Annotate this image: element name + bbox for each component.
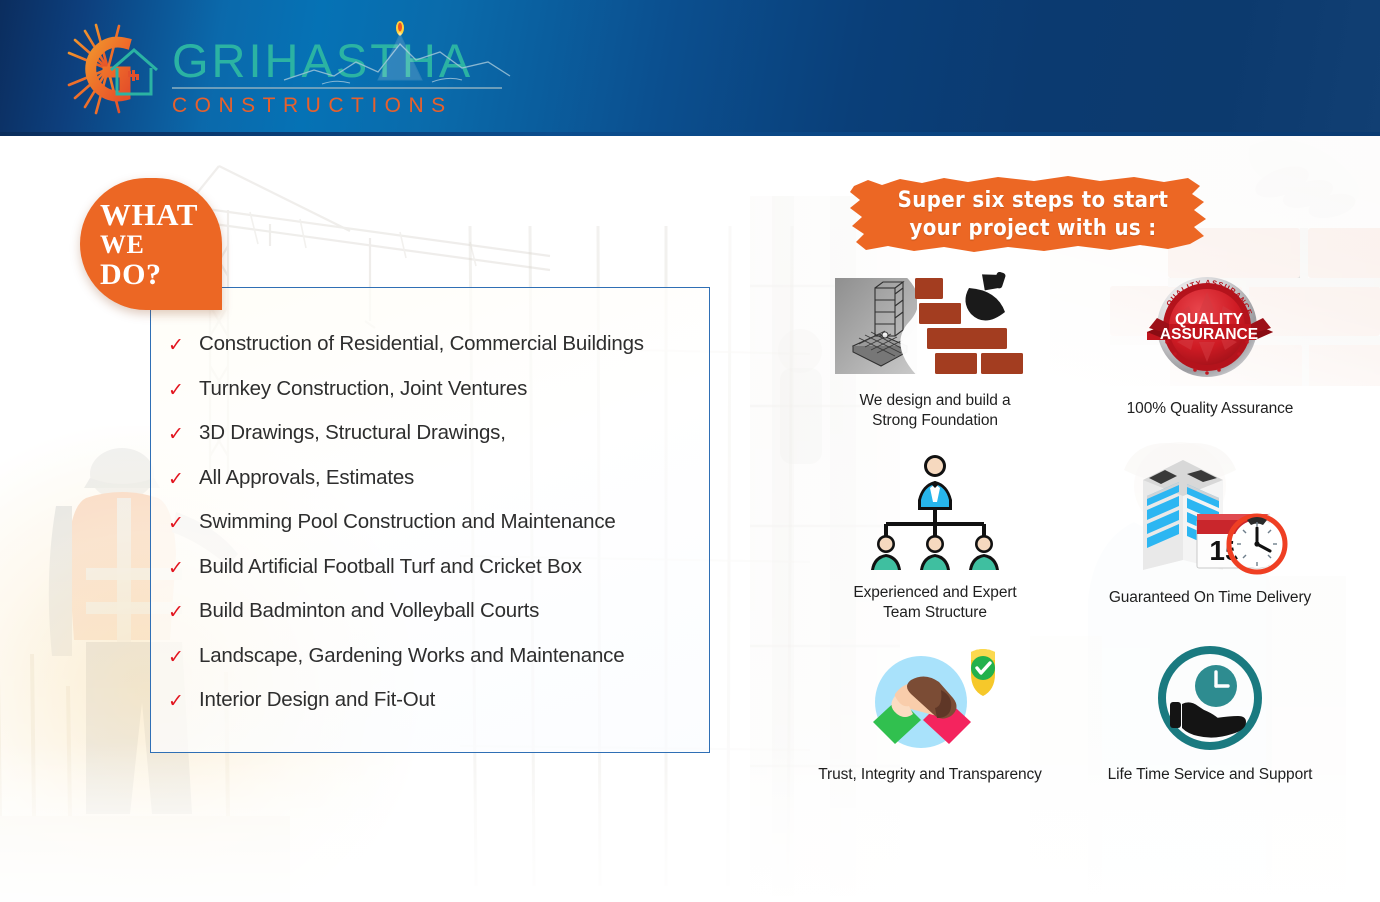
check-icon: ✓ — [155, 508, 199, 538]
check-icon: ✓ — [155, 686, 199, 716]
list-item: ✓ Build Badminton and Volleyball Courts — [155, 597, 755, 642]
list-item-label: Swimming Pool Construction and Maintenan… — [199, 508, 616, 536]
banner-line-1: Super six steps to start — [898, 186, 1169, 214]
check-icon: ✓ — [155, 642, 199, 672]
handshake-shield-check-icon — [855, 642, 1005, 754]
list-item: ✓ All Approvals, Estimates — [155, 464, 755, 509]
check-icon: ✓ — [155, 330, 199, 360]
what-we-do-badge: WHAT WE DO? — [80, 178, 222, 310]
what-we-do-badge-text: WHAT WE DO? — [100, 200, 198, 290]
step-caption: Life Time Service and Support — [1060, 765, 1360, 785]
banner-text: Super six steps to start your project wi… — [870, 172, 1196, 256]
hand-holding-clock-icon — [1154, 642, 1266, 754]
quality-assurance-seal-icon: QUALITY ASSURANCE QUALITY ASSURANCE — [1145, 272, 1275, 388]
logo-wordmark: GRIHASTHA CONSTRUCTIONS — [172, 36, 502, 118]
step-caption: We design and build a Strong Foundation — [795, 391, 1075, 431]
list-item-label: Interior Design and Fit-Out — [199, 686, 435, 714]
step-on-time-delivery: 15 Guaranteed On Tim — [1060, 452, 1360, 608]
step-foundation: We design and build a Strong Foundation — [795, 272, 1075, 431]
list-item: ✓ Turnkey Construction, Joint Ventures — [155, 375, 755, 420]
logo-brand-text: GRIHASTHA — [172, 36, 502, 86]
step-team-structure: Experienced and Expert Team Structure — [795, 452, 1075, 623]
check-icon: ✓ — [155, 597, 199, 627]
check-icon: ✓ — [155, 464, 199, 494]
building-calendar-clock-icon: 15 — [1125, 452, 1295, 577]
services-list: ✓ Construction of Residential, Commercia… — [155, 330, 755, 731]
super-six-banner: Super six steps to start your project wi… — [848, 172, 1218, 256]
list-item: ✓ Landscape, Gardening Works and Mainten… — [155, 642, 755, 687]
badge-line-2: WE — [100, 230, 198, 260]
team-org-chart-icon — [860, 452, 1010, 572]
company-logo: GRIHASTHA CONSTRUCTIONS — [62, 22, 492, 118]
page-header: GRIHASTHA CONSTRUCTIONS — [0, 0, 1380, 136]
promotional-page: GRIHASTHA CONSTRUCTIONS — [0, 0, 1380, 902]
foundation-rebar-brick-trowel-icon — [835, 272, 1035, 380]
list-item: ✓ Interior Design and Fit-Out — [155, 686, 755, 731]
logo-divider — [172, 87, 502, 89]
list-item-label: Turnkey Construction, Joint Ventures — [199, 375, 527, 403]
list-item-label: Build Badminton and Volleyball Courts — [199, 597, 539, 625]
list-item: ✓ 3D Drawings, Structural Drawings, — [155, 419, 755, 464]
step-caption: Guaranteed On Time Delivery — [1060, 588, 1360, 608]
step-caption: Trust, Integrity and Transparency — [780, 765, 1080, 785]
list-item: ✓ Construction of Residential, Commercia… — [155, 330, 755, 375]
sun-g-house-logo-icon — [62, 22, 167, 118]
seal-title-2: ASSURANCE — [1160, 326, 1258, 343]
badge-line-1: WHAT — [100, 200, 198, 230]
check-icon: ✓ — [155, 375, 199, 405]
logo-tagline-text: CONSTRUCTIONS — [172, 94, 502, 118]
step-caption: 100% Quality Assurance — [1060, 399, 1360, 419]
list-item-label: 3D Drawings, Structural Drawings, — [199, 419, 506, 447]
super-six-steps: We design and build a Strong Foundation — [760, 272, 1360, 817]
step-caption: Experienced and Expert Team Structure — [795, 583, 1075, 623]
list-item-label: Landscape, Gardening Works and Maintenan… — [199, 642, 624, 670]
check-icon: ✓ — [155, 553, 199, 583]
list-item-label: Construction of Residential, Commercial … — [199, 330, 644, 358]
banner-line-2: your project with us : — [909, 214, 1156, 242]
list-item-label: All Approvals, Estimates — [199, 464, 414, 492]
list-item: ✓ Build Artificial Football Turf and Cri… — [155, 553, 755, 598]
step-quality-assurance: QUALITY ASSURANCE QUALITY ASSURANCE 100%… — [1060, 272, 1360, 419]
list-item-label: Build Artificial Football Turf and Crick… — [199, 553, 582, 581]
badge-line-3: DO? — [100, 260, 198, 290]
step-trust-integrity: Trust, Integrity and Transparency — [780, 642, 1080, 785]
list-item: ✓ Swimming Pool Construction and Mainten… — [155, 508, 755, 553]
check-icon: ✓ — [155, 419, 199, 449]
step-lifetime-service: Life Time Service and Support — [1060, 642, 1360, 785]
